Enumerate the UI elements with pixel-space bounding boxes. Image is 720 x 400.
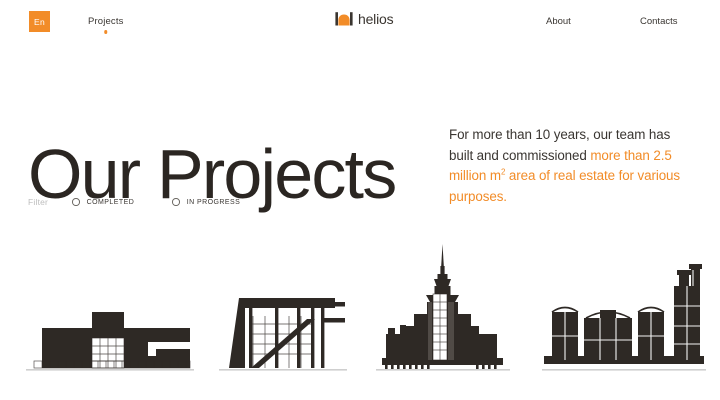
nav-item-contacts[interactable]: Contacts: [640, 16, 678, 27]
hero-description: For more than 10 years, our team has bui…: [449, 125, 695, 207]
filter-label: Filter: [28, 197, 48, 207]
filter-option-completed[interactable]: COMPLETED: [72, 198, 134, 206]
nav-item-projects-label: Projects: [88, 16, 124, 27]
filter-option-completed-label: COMPLETED: [87, 199, 135, 206]
project-card-modernist-low-rise[interactable]: [18, 230, 194, 380]
filter-option-in-progress[interactable]: IN PROGRESS: [172, 198, 240, 206]
radio-icon[interactable]: [172, 198, 180, 206]
language-switcher-button[interactable]: En: [29, 11, 50, 32]
ground-line: [26, 369, 194, 371]
project-gallery: [0, 230, 720, 380]
radio-icon[interactable]: [72, 198, 80, 206]
site-logo[interactable]: helios: [333, 9, 393, 29]
project-card-angular-terminal[interactable]: [215, 230, 350, 380]
nav-item-about[interactable]: About: [546, 16, 571, 27]
active-page-dot-indicator: [104, 30, 108, 34]
ground-line: [376, 369, 510, 371]
filter-option-in-progress-label: IN PROGRESS: [187, 199, 241, 206]
project-card-spire-tower[interactable]: [370, 230, 515, 380]
logo-wordmark: helios: [358, 12, 393, 26]
ground-line: [542, 369, 706, 371]
nav-item-projects[interactable]: Projects: [88, 16, 124, 27]
ground-line: [219, 369, 347, 371]
site-header: En Projects helios About Contacts: [0, 0, 720, 48]
filter-bar: Filter COMPLETED IN PROGRESS: [28, 197, 278, 207]
primary-nav-left: Projects: [88, 16, 124, 27]
helios-logo-mark-icon: [333, 9, 355, 29]
project-card-refinery-complex[interactable]: [540, 230, 708, 380]
